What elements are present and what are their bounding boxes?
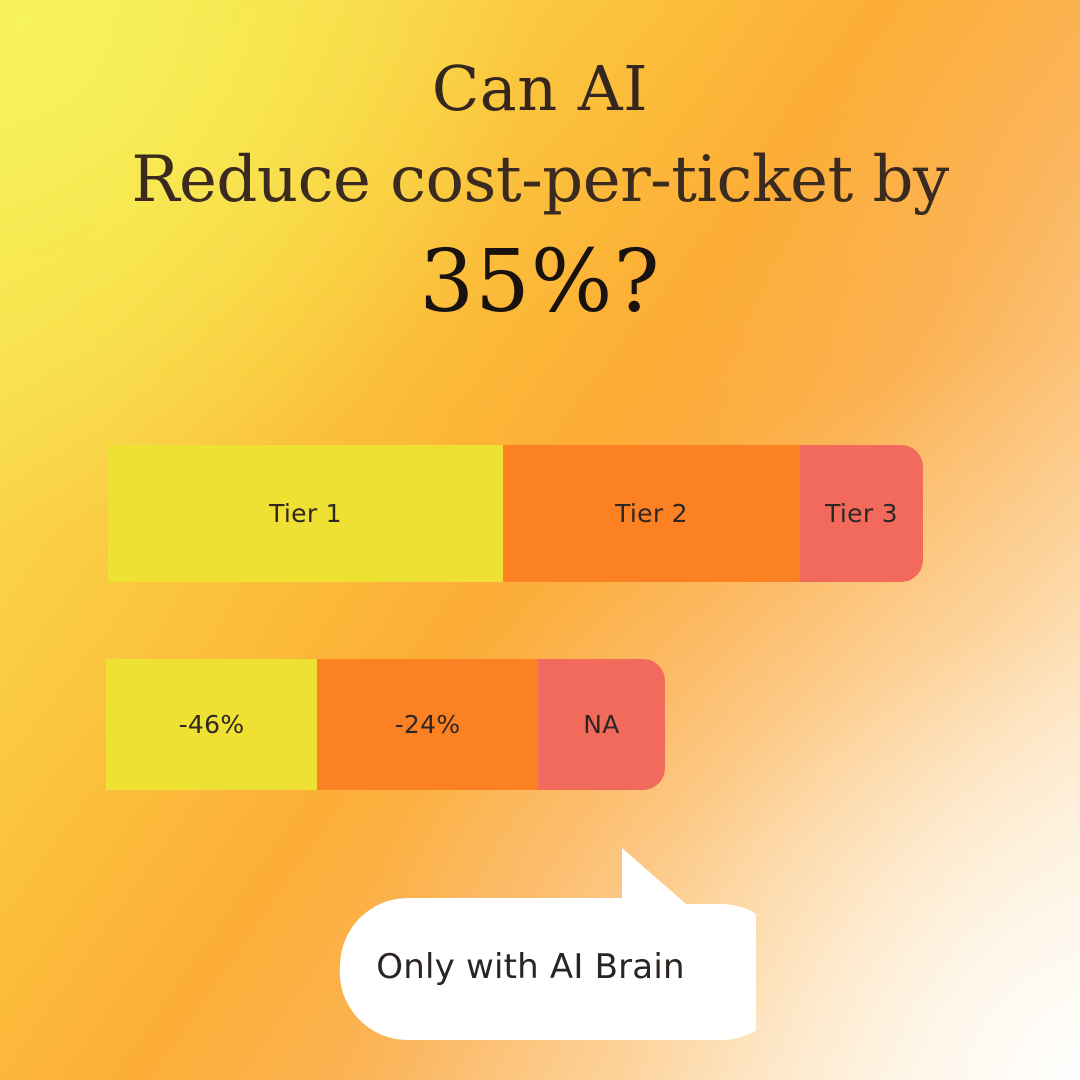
value-stacked-bar: -46% -24% NA: [106, 659, 665, 790]
bar-segment-value-tier-2[interactable]: -24%: [317, 659, 538, 790]
headline-line-1: Can AI: [0, 52, 1080, 126]
headline-metric: 35%?: [0, 230, 1080, 334]
bar-segment-label: Tier 2: [615, 499, 688, 528]
bar-segment-label: -46%: [179, 710, 245, 739]
bar-segment-label: Tier 3: [825, 499, 898, 528]
speech-bubble-label: Only with AI Brain: [326, 898, 735, 1035]
bar-segment-label: Tier 1: [269, 499, 342, 528]
bar-segment-value-tier-1[interactable]: -46%: [106, 659, 317, 790]
speech-bubble[interactable]: Only with AI Brain: [326, 840, 756, 1045]
bar-segment-label: NA: [583, 710, 619, 739]
headline-block: Can AI Reduce cost-per-ticket by 35%?: [0, 52, 1080, 334]
bar-segment-tier-3[interactable]: Tier 3: [800, 445, 923, 582]
headline-line-2: Reduce cost-per-ticket by: [0, 136, 1080, 224]
poster-canvas: Can AI Reduce cost-per-ticket by 35%? Ti…: [0, 0, 1080, 1080]
bar-segment-tier-1[interactable]: Tier 1: [108, 445, 503, 582]
bar-segment-label: -24%: [395, 710, 461, 739]
bar-segment-tier-2[interactable]: Tier 2: [503, 445, 800, 582]
tier-stacked-bar: Tier 1 Tier 2 Tier 3: [108, 445, 923, 582]
bar-segment-value-tier-3[interactable]: NA: [538, 659, 665, 790]
